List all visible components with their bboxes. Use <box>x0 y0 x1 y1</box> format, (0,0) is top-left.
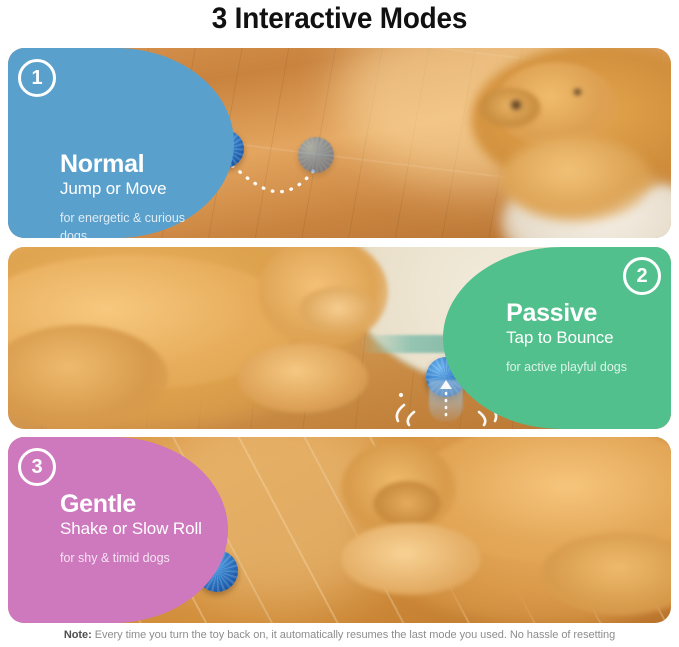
toy-ball-far <box>298 137 334 173</box>
mode-2-badge-number: 2 <box>636 266 647 286</box>
mode-3-name: Gentle <box>60 491 202 517</box>
dog-front-paw <box>238 343 368 413</box>
mode-1-badge: 1 <box>18 59 56 97</box>
dog-front-paw <box>341 523 481 595</box>
dog-snout <box>373 481 441 527</box>
mode-3-description: for shy & timid dogs <box>60 550 202 568</box>
mode-1-subtitle: Jump or Move <box>60 178 210 201</box>
mode-2-name: Passive <box>506 300 627 326</box>
mode-2-subtitle: Tap to Bounce <box>506 327 627 350</box>
page-title: 3 Interactive Modes <box>24 2 655 36</box>
mode-1-badge-number: 1 <box>31 68 42 88</box>
interactive-modes-infographic: 3 Interactive Modes <box>0 0 679 647</box>
mode-3-badge-number: 3 <box>31 457 42 477</box>
mode-2-description: for active playful dogs <box>506 359 627 377</box>
dog-nose <box>508 99 524 111</box>
dog-snout <box>298 287 378 335</box>
mode-1-name: Normal <box>60 151 210 177</box>
mode-2-badge: 2 <box>623 257 661 295</box>
dog-eye <box>572 88 583 96</box>
footer-note-text: Every time you turn the toy back on, it … <box>95 629 615 641</box>
mode-panel-3: 3 Gentle Shake or Slow Roll for shy & ti… <box>8 437 671 623</box>
mode-3-subtitle: Shake or Slow Roll <box>60 518 202 541</box>
footer-note-label: Note: <box>64 629 92 641</box>
dog-paws <box>501 136 651 222</box>
mode-panel-2: 2 Passive Tap to Bounce for active playf… <box>8 247 671 429</box>
footer-note: Note: Every time you turn the toy back o… <box>0 629 679 641</box>
mode-1-text: Normal Jump or Move for energetic & curi… <box>60 151 210 238</box>
mode-2-text: Passive Tap to Bounce for active playful… <box>506 300 627 377</box>
ball-motion-trail <box>429 380 463 422</box>
mode-3-text: Gentle Shake or Slow Roll for shy & timi… <box>60 491 202 568</box>
mode-panel-1: 1 Normal Jump or Move for energetic & cu… <box>8 48 671 238</box>
mode-1-description: for energetic & curious dogs <box>60 210 210 238</box>
mode-3-badge: 3 <box>18 448 56 486</box>
